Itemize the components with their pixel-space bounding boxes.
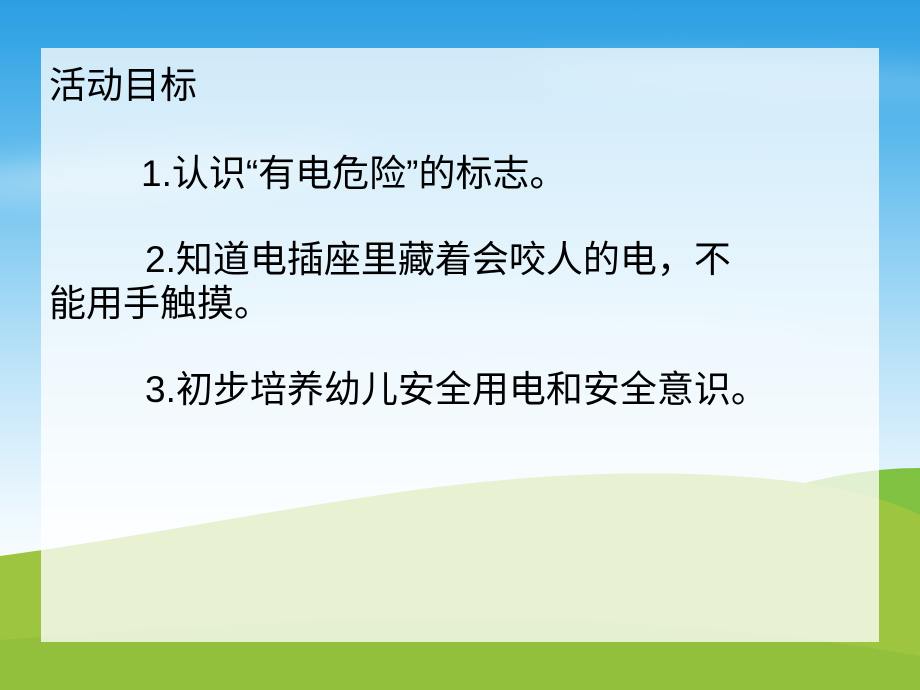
objective-item-2-line-1: 2.知道电插座里藏着会咬人的电，不 [45, 238, 875, 282]
content-text-block: 活动目标 1.认识“有电危险”的标志。 2.知道电插座里藏着会咬人的电，不 能用… [41, 48, 879, 412]
content-panel: 活动目标 1.认识“有电危险”的标志。 2.知道电插座里藏着会咬人的电，不 能用… [41, 48, 879, 642]
objective-item-1: 1.认识“有电危险”的标志。 [45, 152, 875, 196]
spacer [45, 196, 875, 238]
spacer [45, 326, 875, 368]
page-title: 活动目标 [45, 64, 875, 108]
spacer [45, 108, 875, 152]
objective-item-2-line-2: 能用手触摸。 [45, 282, 875, 326]
objective-item-3: 3.初步培养幼儿安全用电和安全意识。 [45, 368, 875, 412]
slide-canvas: 活动目标 1.认识“有电危险”的标志。 2.知道电插座里藏着会咬人的电，不 能用… [0, 0, 920, 690]
